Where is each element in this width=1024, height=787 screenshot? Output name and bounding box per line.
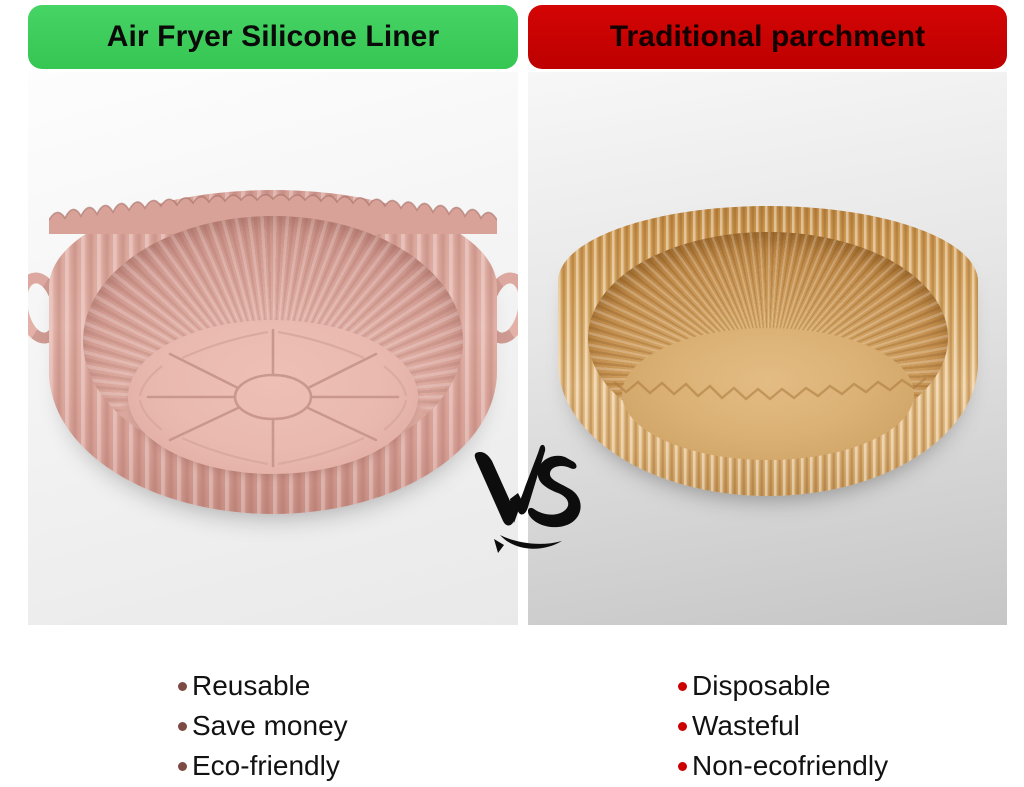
bullet-label: Reusable	[192, 666, 310, 706]
right-product-photo	[528, 72, 1007, 625]
parchment-floor	[622, 328, 914, 460]
bullet-label: Wasteful	[692, 706, 800, 746]
silicone-liner-illustration	[43, 184, 503, 514]
bullet-dot-icon	[178, 682, 187, 691]
left-product-benefits: Reusable Save money Eco-friendly	[178, 666, 348, 786]
silicone-base-plate	[128, 320, 418, 474]
right-product-title: Traditional parchment	[610, 20, 926, 54]
list-item: Non-ecofriendly	[678, 746, 888, 786]
silicone-flower-pattern-icon	[128, 320, 418, 474]
left-product-photo	[28, 72, 518, 625]
list-item: Save money	[178, 706, 348, 746]
versus-mark	[470, 435, 590, 565]
bullet-dot-icon	[678, 682, 687, 691]
list-item: Reusable	[178, 666, 348, 706]
parchment-interior	[588, 232, 948, 444]
bullet-label: Eco-friendly	[192, 746, 340, 786]
bullet-label: Save money	[192, 706, 348, 746]
right-product-drawbacks: Disposable Wasteful Non-ecofriendly	[678, 666, 888, 786]
bullet-dot-icon	[678, 762, 687, 771]
parchment-liner-illustration	[558, 192, 978, 512]
left-product-banner: Air Fryer Silicone Liner	[28, 5, 518, 69]
silicone-bowl-interior	[83, 216, 463, 466]
list-item: Disposable	[678, 666, 888, 706]
bullet-label: Non-ecofriendly	[692, 746, 888, 786]
bullet-dot-icon	[678, 722, 687, 731]
bullet-dot-icon	[178, 762, 187, 771]
left-product-title: Air Fryer Silicone Liner	[107, 20, 440, 54]
silicone-bowl-body	[49, 190, 497, 514]
parchment-body	[558, 206, 978, 496]
comparison-infographic: Air Fryer Silicone Liner Traditional par…	[0, 0, 1024, 787]
right-product-banner: Traditional parchment	[528, 5, 1007, 69]
bullet-dot-icon	[178, 722, 187, 731]
bullet-label: Disposable	[692, 666, 831, 706]
list-item: Wasteful	[678, 706, 888, 746]
vs-brush-icon	[470, 435, 590, 565]
list-item: Eco-friendly	[178, 746, 348, 786]
